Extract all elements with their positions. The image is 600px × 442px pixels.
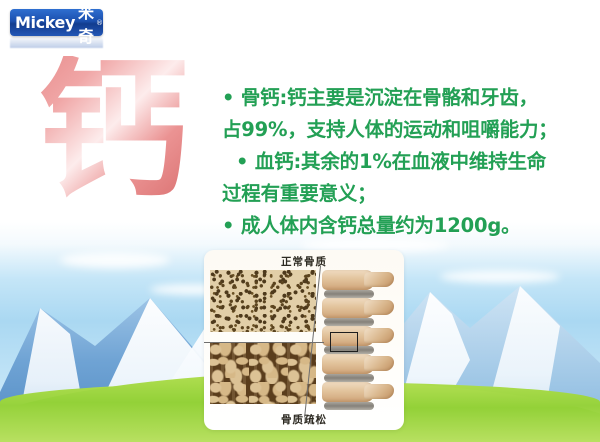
intervertebral-disc [324, 318, 374, 326]
brand-logo[interactable]: Mickey 米奇 ® [10, 9, 103, 36]
cloud-shape [60, 252, 170, 268]
callout-leader-line [204, 342, 324, 343]
lumbar-vertebrae-illustration [322, 266, 402, 418]
logo-chinese-text: 米奇 [78, 0, 95, 47]
intervertebral-disc [324, 402, 374, 410]
intervertebral-disc [324, 374, 374, 382]
bullet-line: 过程有重要意义； [222, 178, 590, 210]
bullet-list: • 骨钙:钙主要是沉淀在骨骼和牙齿， 占99%，支持人体的运动和咀嚼能力； • … [222, 82, 590, 242]
logo-english-text: Mickey [15, 13, 75, 32]
bullet-line: • 成人体内含钙总量约为1200g。 [222, 210, 590, 242]
bullet-line: 占99%，支持人体的运动和咀嚼能力； [222, 114, 590, 146]
bullet-line: • 骨钙:钙主要是沉淀在骨骼和牙齿， [222, 82, 590, 114]
vertebra-process [364, 300, 394, 315]
calcium-character-heading: 钙 [38, 56, 188, 206]
vertebra-process [364, 384, 394, 399]
caption-osteoporosis: 骨质疏松 [204, 412, 404, 427]
intervertebral-disc [324, 290, 374, 298]
vertebra-process [364, 272, 394, 287]
cloud-shape [440, 270, 560, 283]
registered-trademark-icon: ® [96, 19, 103, 27]
bullet-line: • 血钙:其余的1%在血液中维持生命 [222, 146, 590, 178]
osteoporotic-bone-texture [210, 342, 316, 404]
slide-canvas: Mickey 米奇 ® 钙 • 骨钙:钙主要是沉淀在骨骼和牙齿， 占99%，支持… [0, 0, 600, 442]
callout-highlight-box [330, 332, 358, 352]
normal-bone-texture [210, 270, 316, 332]
vertebra-process [364, 356, 394, 371]
bone-illustration-card: 正常骨质 骨质疏松 [204, 250, 404, 430]
vertebra-process [364, 328, 394, 343]
